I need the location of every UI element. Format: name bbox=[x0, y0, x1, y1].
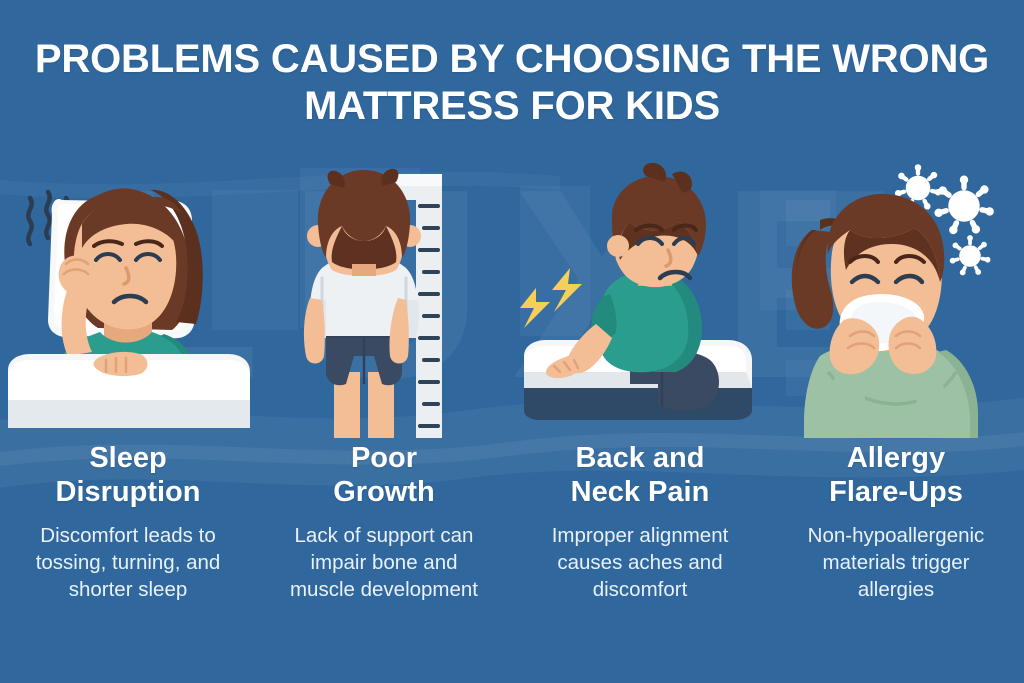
girl-in-bed-headache-icon bbox=[0, 160, 256, 438]
panel-heading-line-1: Poor bbox=[351, 442, 417, 474]
panel-description: Non-hypoallergenic materials trigger all… bbox=[776, 522, 1016, 603]
page-title: PROBLEMS CAUSED BY CHOOSING THE WRONG MA… bbox=[0, 36, 1024, 130]
boy-with-height-ruler-icon bbox=[256, 160, 512, 438]
infographic-poster: LUXE PROBLEMS CAUSED BY CHOOSING THE WRO… bbox=[0, 0, 1024, 683]
panel-heading: Allergy Flare-Ups bbox=[823, 442, 969, 510]
panel-allergy-flare-ups: Allergy Flare-Ups Non-hypoallergenic mat… bbox=[768, 160, 1024, 660]
panel-heading: Poor Growth bbox=[327, 442, 441, 510]
panel-description: Lack of support can impair bone and musc… bbox=[264, 522, 504, 603]
panel-heading-line-2: Disruption bbox=[56, 476, 201, 508]
panel-sleep-disruption: Sleep Disruption Discomfort leads to tos… bbox=[0, 160, 256, 660]
page-title-line-2: MATTRESS FOR KIDS bbox=[16, 83, 1008, 130]
panel-heading-line-2: Flare-Ups bbox=[829, 476, 963, 508]
page-title-line-1: PROBLEMS CAUSED BY CHOOSING THE WRONG bbox=[35, 37, 989, 81]
panel-back-and-neck-pain: Back and Neck Pain Improper alignment ca… bbox=[512, 160, 768, 660]
panel-description: Discomfort leads to tossing, turning, an… bbox=[8, 522, 248, 603]
girl-sneezing-allergens-icon bbox=[768, 160, 1024, 438]
panel-heading: Sleep Disruption bbox=[50, 442, 207, 510]
panel-heading: Back and Neck Pain bbox=[565, 442, 716, 510]
panel-heading-line-1: Back and bbox=[576, 442, 705, 474]
panel-heading-line-1: Allergy bbox=[847, 442, 945, 474]
panel-heading-line-2: Neck Pain bbox=[571, 476, 710, 508]
panel-heading-line-2: Growth bbox=[333, 476, 435, 508]
panel-heading-line-1: Sleep bbox=[89, 442, 166, 474]
problem-columns: Sleep Disruption Discomfort leads to tos… bbox=[0, 160, 1024, 660]
panel-description: Improper alignment causes aches and disc… bbox=[520, 522, 760, 603]
boy-sitting-on-mattress-icon bbox=[512, 160, 768, 438]
panel-poor-growth: Poor Growth Lack of support can impair b… bbox=[256, 160, 512, 660]
pain-lightning-bolts bbox=[520, 268, 582, 328]
